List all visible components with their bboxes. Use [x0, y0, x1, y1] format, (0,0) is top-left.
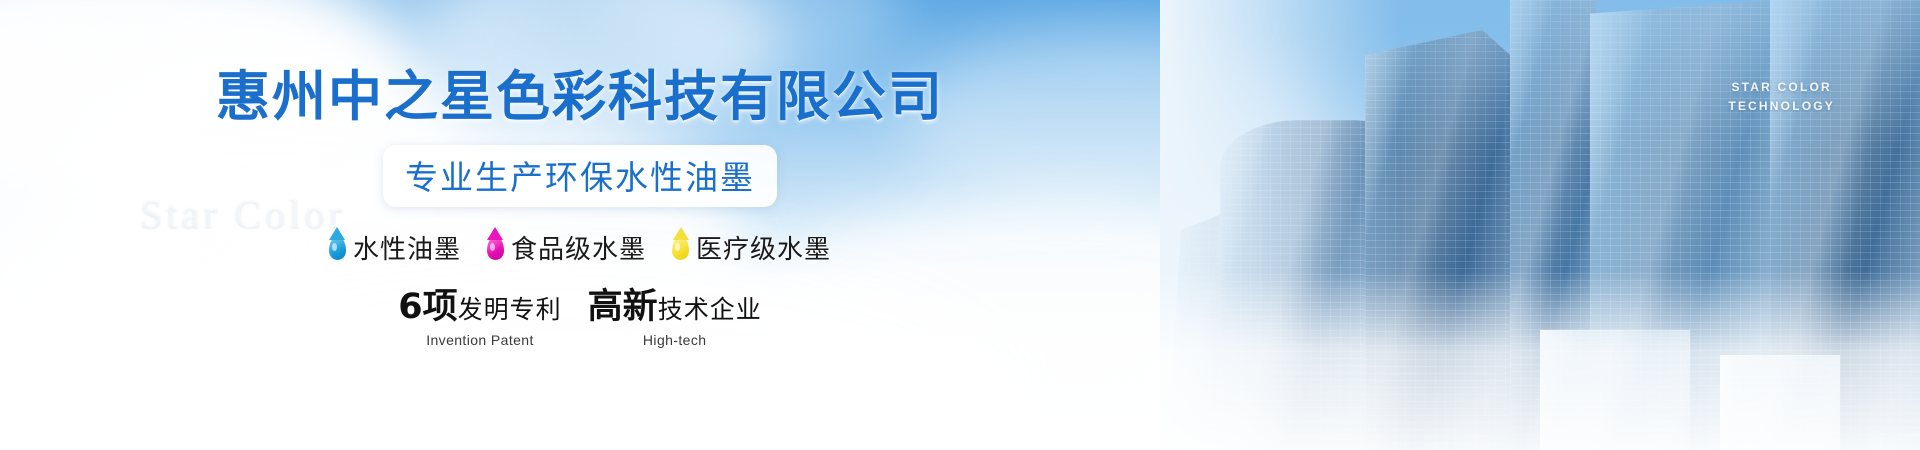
badge-invention-patent: 6项发明专利 Invention Patent [398, 290, 561, 348]
water-drop-icon [672, 236, 689, 260]
feature-item-food-grade-ink: 食品级水墨 [487, 229, 646, 266]
badge-chinese-text: 6项发明专利 [398, 290, 561, 325]
water-drop-icon [329, 236, 346, 260]
feature-label: 食品级水墨 [511, 229, 646, 266]
company-banner: Star Color STAR COLOR TECHNOLOGY 惠州中之星色彩… [0, 0, 1920, 450]
credential-badges: 6项发明专利 Invention Patent 高新技术企业 High-tech [398, 290, 761, 348]
badge-english-label: Invention Patent [398, 332, 561, 348]
badge-chinese-text: 高新技术企业 [588, 290, 762, 325]
badge-chinese-label: 发明专利 [458, 295, 562, 324]
feature-label: 医疗级水墨 [696, 229, 831, 266]
feature-item-medical-grade-ink: 医疗级水墨 [672, 229, 831, 266]
water-drop-icon [487, 236, 504, 260]
feature-item-water-based-ink: 水性油墨 [329, 229, 461, 266]
subtitle-text: 专业生产环保水性油墨 [405, 151, 755, 199]
badge-high-tech-enterprise: 高新技术企业 High-tech [588, 290, 762, 348]
subtitle-pill: 专业生产环保水性油墨 [383, 145, 777, 207]
feature-label: 水性油墨 [353, 229, 461, 266]
badge-count: 6项 [398, 287, 457, 327]
watermark-line-1: STAR COLOR [1728, 78, 1835, 97]
watermark-line-2: TECHNOLOGY [1728, 97, 1835, 116]
banner-content: 惠州中之星色彩科技有限公司 专业生产环保水性油墨 水性油墨 食品级水墨 医疗级水… [0, 0, 1160, 450]
company-title: 惠州中之星色彩科技有限公司 [216, 52, 944, 131]
product-feature-list: 水性油墨 食品级水墨 医疗级水墨 [329, 229, 831, 266]
badge-chinese-label: 技术企业 [658, 295, 762, 324]
badge-headline: 高新 [588, 287, 658, 327]
watermark-star-color-technology: STAR COLOR TECHNOLOGY [1728, 78, 1835, 115]
badge-english-label: High-tech [588, 332, 762, 348]
